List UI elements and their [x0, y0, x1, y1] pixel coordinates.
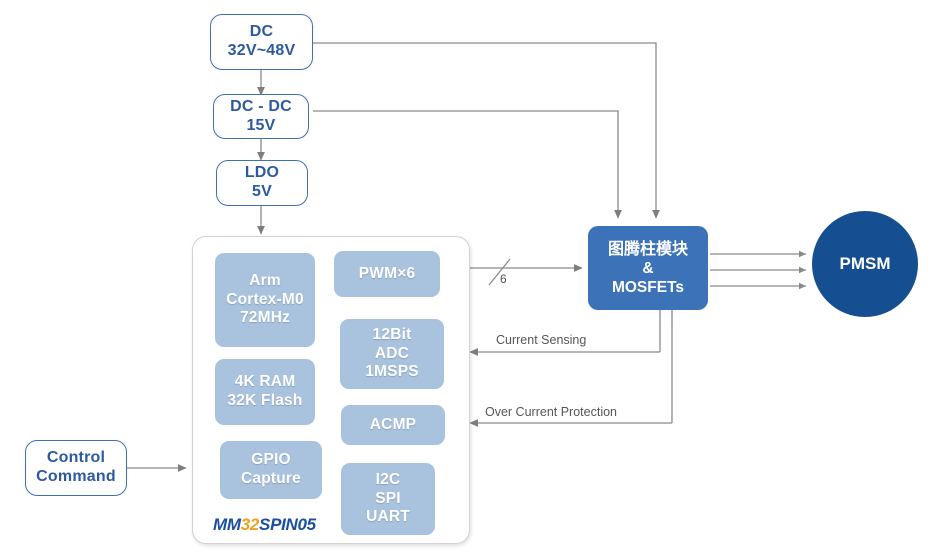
logo-part-spin05: SPIN05 [259, 515, 316, 534]
mm32spin05-logo: MM32SPIN05 [213, 515, 316, 535]
mcu-block-adc[interactable]: 12Bit ADC 1MSPS [340, 319, 444, 389]
power-stage-line3: MOSFETs [612, 278, 684, 297]
comms-line1: I2C [376, 471, 401, 490]
pwm-line1: PWM×6 [359, 265, 416, 284]
over-current-protection-label: Over Current Protection [485, 405, 617, 419]
power-stage-line1: 图腾柱模块 [608, 239, 688, 259]
mcu-block-pwm[interactable]: PWM×6 [334, 251, 440, 297]
mcu-container[interactable]: Arm Cortex-M0 72MHz 4K RAM 32K Flash GPI… [192, 236, 470, 544]
acmp-line1: ACMP [370, 416, 416, 435]
dc-source-line2: 32V~48V [228, 42, 296, 61]
memory-line1: 4K RAM [235, 373, 296, 392]
mcu-block-acmp[interactable]: ACMP [341, 405, 445, 445]
ldo-line2: 5V [252, 183, 272, 202]
power-stage-block[interactable]: 图腾柱模块 & MOSFETs [588, 226, 708, 310]
core-line2: Cortex-M0 [226, 291, 304, 310]
current-sensing-label: Current Sensing [496, 333, 586, 347]
adc-line3: 1MSPS [365, 363, 419, 382]
mcu-block-comms[interactable]: I2C SPI UART [341, 463, 435, 535]
ldo-line1: LDO [245, 164, 279, 183]
control-command-line2: Command [36, 468, 116, 487]
logo-part-32: 32 [241, 515, 259, 534]
pmsm-label: PMSM [840, 254, 891, 274]
comms-line2: SPI [375, 490, 401, 509]
control-command-box[interactable]: Control Command [25, 440, 127, 496]
pwm-bus-width-label: 6 [500, 272, 507, 286]
wire-dcdc-to-powerstage [313, 111, 618, 218]
dcdc-box[interactable]: DC - DC 15V [213, 94, 309, 139]
adc-line1: 12Bit [373, 326, 412, 345]
wire-dc-bus-to-powerstage [313, 43, 656, 218]
comms-line3: UART [366, 508, 410, 527]
block-diagram-canvas: DC 32V~48V DC - DC 15V LDO 5V Control Co… [0, 0, 938, 555]
pmsm-motor[interactable]: PMSM [812, 211, 918, 317]
gpio-line1: GPIO [251, 451, 291, 470]
mcu-block-gpio[interactable]: GPIO Capture [220, 441, 322, 499]
memory-line2: 32K Flash [227, 392, 302, 411]
control-command-line1: Control [47, 449, 105, 468]
logo-part-mm: MM [213, 515, 241, 534]
mcu-block-core[interactable]: Arm Cortex-M0 72MHz [215, 253, 315, 347]
dcdc-line2: 15V [246, 117, 275, 136]
gpio-line2: Capture [241, 470, 301, 489]
mcu-block-memory[interactable]: 4K RAM 32K Flash [215, 359, 315, 425]
dc-source-box[interactable]: DC 32V~48V [210, 14, 313, 70]
dcdc-line1: DC - DC [230, 98, 292, 117]
adc-line2: ADC [375, 345, 409, 364]
power-stage-line2: & [642, 259, 653, 278]
core-line1: Arm [249, 272, 281, 291]
ldo-box[interactable]: LDO 5V [216, 160, 308, 206]
core-line3: 72MHz [240, 309, 290, 328]
dc-source-line1: DC [250, 23, 274, 42]
